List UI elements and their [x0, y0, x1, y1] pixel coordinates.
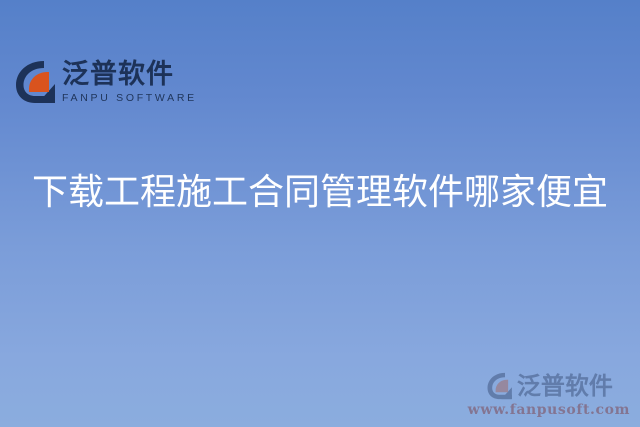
promo-banner: 泛普软件 FANPU SOFTWARE 下载工程施工合同管理软件哪家便宜 泛普软… — [0, 0, 640, 427]
brand-name-en: FANPU SOFTWARE — [62, 91, 197, 105]
watermark-fanpu-logo-mark-icon — [485, 371, 515, 401]
page-title: 下载工程施工合同管理软件哪家便宜 — [0, 168, 640, 218]
brand-name-cn: 泛普软件 — [62, 60, 197, 90]
watermark-url: www.fanpusoft.com — [468, 402, 630, 419]
fanpu-logo-mark-icon — [14, 58, 58, 106]
watermark-brand-row: 泛普软件 — [485, 371, 613, 401]
watermark: 泛普软件 www.fanpusoft.com — [468, 371, 630, 419]
watermark-brand-name: 泛普软件 — [517, 372, 613, 400]
brand-wordmark: 泛普软件 FANPU SOFTWARE — [62, 58, 197, 105]
header-brand-logo: 泛普软件 FANPU SOFTWARE — [14, 58, 197, 106]
